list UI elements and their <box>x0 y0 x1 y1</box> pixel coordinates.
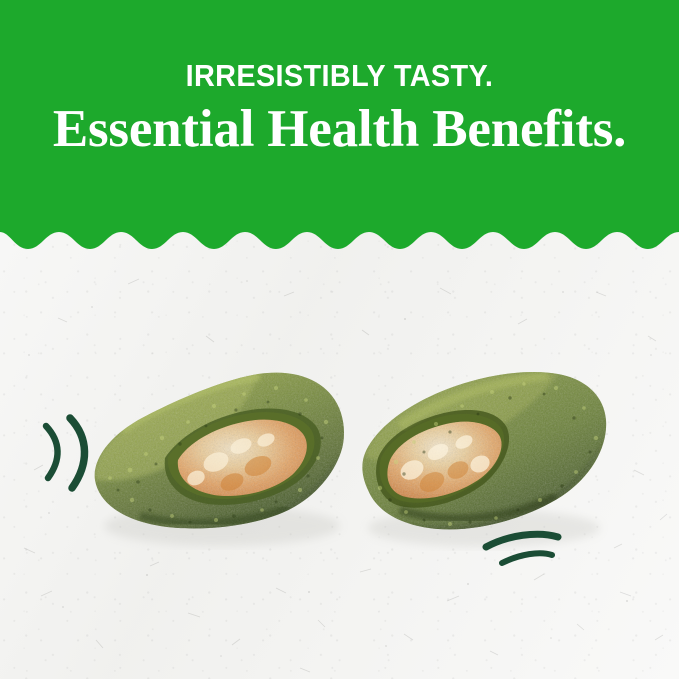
motion-arc-lower-right <box>502 553 552 563</box>
motion-arc-inner-left <box>46 426 58 478</box>
motion-arc-pair-right <box>480 525 566 567</box>
kicker-text: IRRESISTIBLY TASTY. <box>186 60 494 91</box>
headline-block: IRRESISTIBLY TASTY. Essential Health Ben… <box>0 0 679 232</box>
motion-lines-right <box>480 525 566 567</box>
product-benefit-banner: IRRESISTIBLY TASTY. Essential Health Ben… <box>0 0 679 679</box>
motion-arc-pair-left <box>36 412 102 492</box>
treat-half-left <box>90 368 350 538</box>
motion-arc-outer-left <box>70 418 85 488</box>
motion-lines-left <box>36 412 102 492</box>
green-header-panel: IRRESISTIBLY TASTY. Essential Health Ben… <box>0 0 679 262</box>
treat-half-right <box>358 364 614 538</box>
motion-arc-upper-right <box>486 534 558 547</box>
page-title: Essential Health Benefits. <box>53 102 626 157</box>
